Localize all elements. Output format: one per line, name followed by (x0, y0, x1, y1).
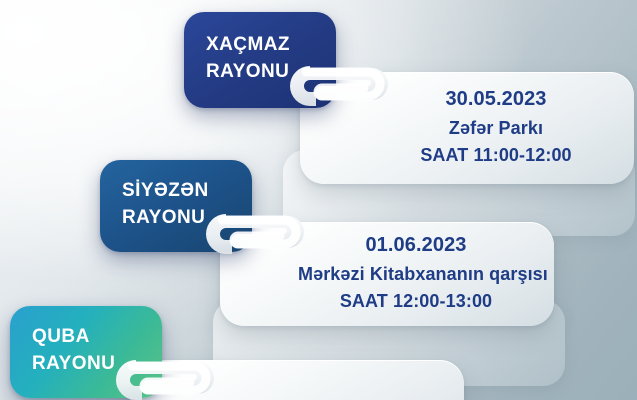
region-badge-siyezen-line2: RAYONU (122, 205, 234, 232)
event-place-2: Mərkəzi Kitabxananın qarşısı (298, 261, 534, 288)
event-card-3: 02.06.2023 (130, 360, 464, 400)
event-card-1: 30.05.2023 Zəfər Parkı SAAT 11:00-12:00 (300, 72, 634, 184)
region-badge-quba[interactable]: QUBA RAYONU (10, 306, 162, 398)
region-badge-xacmaz-line1: XAÇMAZ (206, 32, 318, 59)
event-date-3: 02.06.2023 (208, 396, 444, 400)
region-badge-quba-line1: QUBA (32, 324, 144, 351)
event-date-1: 30.05.2023 (378, 84, 614, 114)
event-date-2: 01.06.2023 (298, 230, 534, 260)
region-badge-siyezen[interactable]: SİYƏZƏN RAYONU (100, 160, 252, 252)
event-time-1: SAAT 11:00-12:00 (378, 142, 614, 169)
event-card-2: 01.06.2023 Mərkəzi Kitabxananın qarşısı … (220, 222, 554, 326)
region-badge-siyezen-line1: SİYƏZƏN (122, 178, 234, 205)
region-badge-quba-line2: RAYONU (32, 351, 144, 378)
event-time-2: SAAT 12:00-13:00 (298, 288, 534, 315)
event-place-1: Zəfər Parkı (378, 115, 614, 142)
schedule-graphic: 30.05.2023 Zəfər Parkı SAAT 11:00-12:00 … (0, 0, 637, 400)
region-badge-xacmaz-line2: RAYONU (206, 59, 318, 86)
region-badge-xacmaz[interactable]: XAÇMAZ RAYONU (184, 12, 336, 108)
